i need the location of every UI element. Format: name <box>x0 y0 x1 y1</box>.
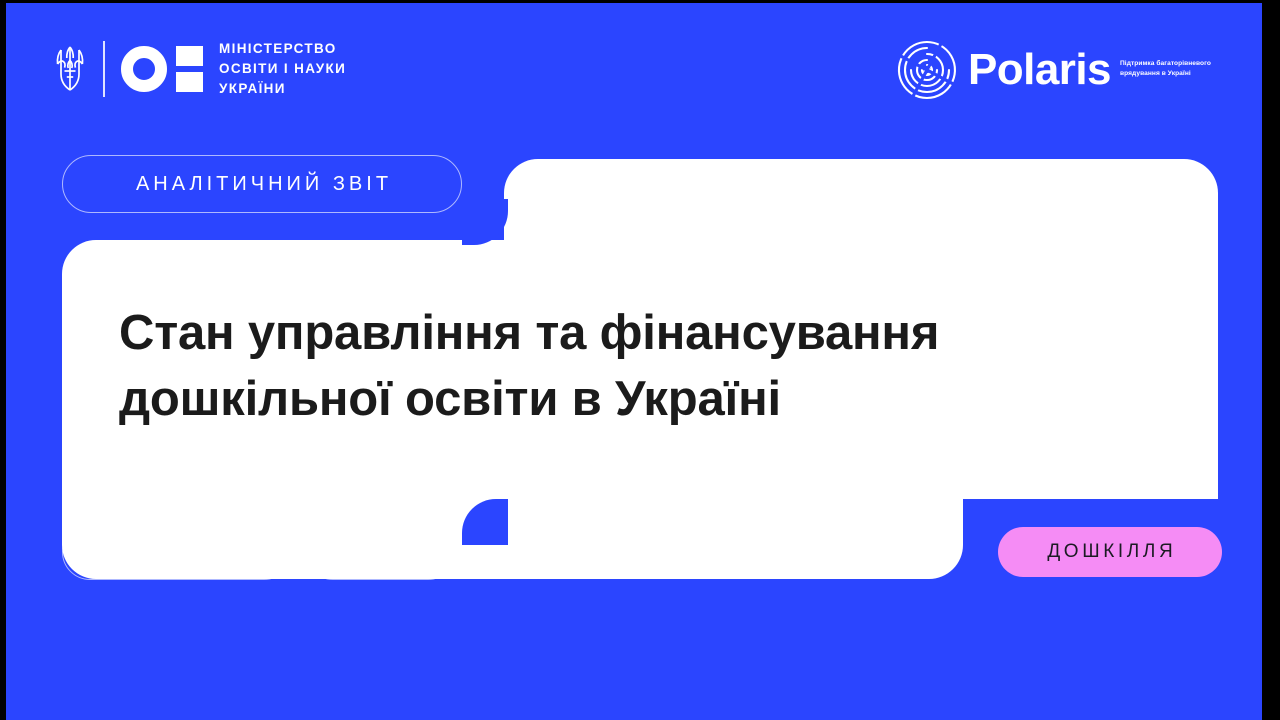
topic-tag-badge: ДОШКІЛЛЯ <box>998 527 1222 577</box>
event-date-badge: 30 ЖОВТНЯ <box>62 524 292 580</box>
polaris-tagline: Підтримка багаторівневого врядування в У… <box>1120 59 1224 79</box>
mon-bar-top <box>176 46 203 66</box>
page-title-line-2: дошкільної освіти в Україні <box>119 367 1119 433</box>
polaris-tagline-line-2: врядування в Україні <box>1120 70 1191 77</box>
mon-bar-bottom <box>176 72 203 92</box>
page-title: Стан управління та фінансування дошкільн… <box>119 301 1119 432</box>
ministry-name-line-1: МІНІСТЕРСТВО <box>219 41 337 56</box>
slide-canvas: МІНІСТЕРСТВО ОСВІТИ І НАУКИ УКРАЇНИ <box>6 3 1262 720</box>
mon-ring-shape <box>121 46 167 92</box>
logo-bar: МІНІСТЕРСТВО ОСВІТИ І НАУКИ УКРАЇНИ <box>6 3 1262 143</box>
polaris-logo-lockup: Polaris Підтримка багаторівневого врядув… <box>896 39 1224 101</box>
slide-frame: МІНІСТЕРСТВО ОСВІТИ І НАУКИ УКРАЇНИ <box>0 0 1280 720</box>
ministry-name-line-3: УКРАЇНИ <box>219 81 286 96</box>
mon-circle-squares-icon <box>121 45 203 93</box>
event-time-badge: 13:00 <box>305 524 456 580</box>
ukraine-trident-icon <box>55 40 85 98</box>
mon-bars-shape <box>176 46 203 92</box>
polaris-tagline-line-1: Підтримка багаторівневого <box>1120 60 1211 67</box>
page-title-line-1: Стан управління та фінансування <box>119 301 1119 367</box>
polaris-wordmark: Polaris <box>968 48 1111 92</box>
ministry-logo-lockup: МІНІСТЕРСТВО ОСВІТИ І НАУКИ УКРАЇНИ <box>55 36 346 102</box>
card-notch-top-left <box>462 199 508 245</box>
polaris-spiral-icon <box>896 39 958 101</box>
ministry-name-line-2: ОСВІТИ І НАУКИ <box>219 61 346 76</box>
report-type-badge: АНАЛІТИЧНИЙ ЗВІТ <box>62 155 462 213</box>
logo-divider <box>103 41 105 97</box>
ministry-name: МІНІСТЕРСТВО ОСВІТИ І НАУКИ УКРАЇНИ <box>219 39 346 99</box>
